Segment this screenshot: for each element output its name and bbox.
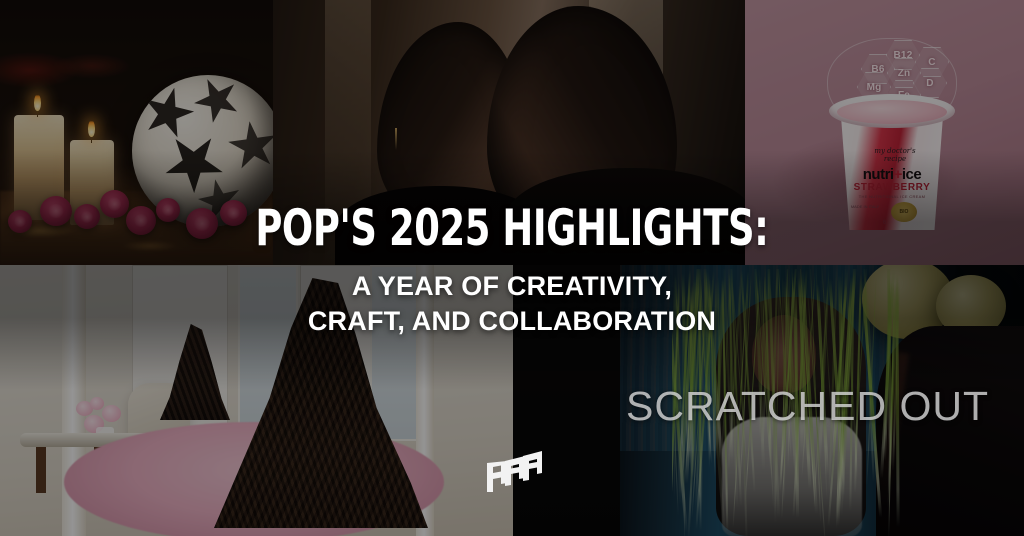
rose — [156, 198, 180, 222]
brand-plus: + — [894, 166, 902, 183]
earring — [395, 128, 397, 150]
candle-wick — [91, 136, 92, 143]
ball-star-panel — [152, 121, 236, 205]
tub-flavour-label: STRAWBERRY — [843, 182, 941, 193]
tub-seal-side-text: MADE IN ITALY — [847, 204, 883, 209]
ball-star-panel — [225, 118, 273, 174]
brand-second: ice — [902, 166, 921, 183]
tub-subline: THE NUTRITIONAL ICE CREAM — [847, 194, 937, 199]
tub-script-label: my doctor's recipe — [863, 148, 927, 163]
rose — [8, 210, 32, 233]
candle-flame — [88, 120, 95, 137]
football-ball — [132, 75, 273, 227]
tub-ice-cream-surface — [837, 100, 947, 124]
tub-bottom-number: 6 — [883, 220, 886, 226]
rose — [40, 196, 72, 226]
panel-dark-spacer — [513, 265, 620, 536]
flower — [102, 405, 121, 422]
man-shoulder — [505, 168, 745, 265]
tub-bio-seal: BIO — [891, 202, 917, 222]
candle-flame — [34, 94, 41, 111]
candle-wick — [37, 110, 38, 117]
brand-first: nutri — [863, 166, 894, 183]
panel-couple-kiss — [273, 0, 745, 265]
rose — [126, 206, 156, 235]
flower — [90, 397, 104, 410]
highlights-banner: B6 B12 C Zn Mg D Fe my doctor's recipe n… — [0, 0, 1024, 536]
rose — [186, 208, 218, 239]
panel-candles-football-roses — [0, 0, 273, 265]
ice-cream-tub: my doctor's recipe nutri+ice STRAWBERRY … — [833, 104, 951, 230]
rose — [100, 190, 129, 218]
scratched-out-caption: SCRATCHED OUT — [626, 383, 989, 430]
tub-brand-label: nutri+ice — [843, 166, 941, 183]
panel-black-gown-salon — [0, 265, 513, 536]
ball-star-panel — [186, 75, 247, 131]
pop-logo[interactable] — [486, 450, 542, 492]
rose — [220, 200, 247, 226]
table-leg — [36, 447, 46, 493]
panel-nutri-ice-strawberry: B6 B12 C Zn Mg D Fe my doctor's recipe n… — [745, 0, 1024, 265]
rose — [74, 204, 100, 229]
